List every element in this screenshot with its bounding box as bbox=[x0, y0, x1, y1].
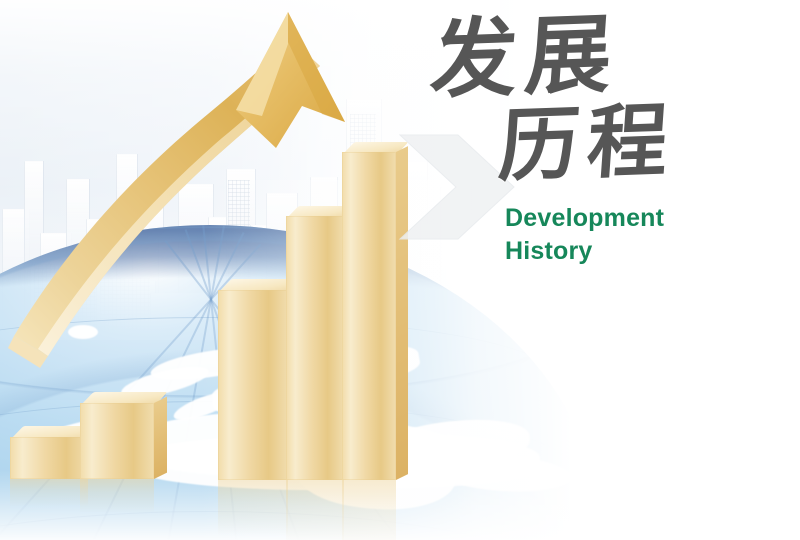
headline-english-block: Development History bbox=[505, 202, 775, 268]
headline-block: 发展 历程 Development History bbox=[425, 18, 775, 268]
growth-arrow bbox=[0, 0, 420, 400]
bar-1 bbox=[10, 437, 88, 479]
bar-2 bbox=[80, 403, 154, 479]
headline-english-line-1: Development bbox=[505, 202, 775, 235]
development-history-banner: 发展 历程 Development History bbox=[0, 0, 800, 540]
headline-chinese-line-2: 历程 bbox=[496, 98, 778, 188]
headline-english-line-2: History bbox=[505, 235, 775, 268]
headline-chinese-line-1: 发展 bbox=[428, 6, 779, 104]
